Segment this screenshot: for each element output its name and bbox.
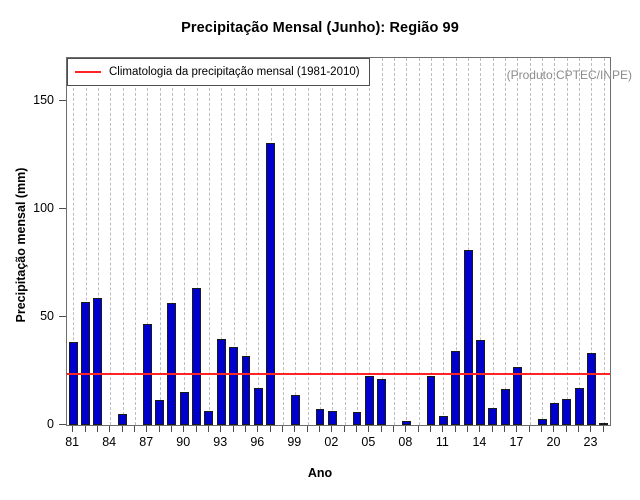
- bar: [192, 288, 201, 425]
- x-tick-mark: [430, 426, 431, 432]
- plot-area: [66, 57, 611, 426]
- bar: [81, 302, 90, 425]
- legend: Climatologia da precipitação mensal (198…: [67, 58, 370, 86]
- chart-figure: Precipitação Mensal (Junho): Região 99 P…: [0, 0, 640, 500]
- bar: [204, 411, 213, 425]
- bar: [501, 389, 510, 425]
- bar: [488, 408, 497, 425]
- x-tick-mark: [183, 426, 184, 432]
- x-tick-mark: [208, 426, 209, 432]
- x-tick-label: 93: [213, 435, 227, 449]
- x-tick-label: 14: [472, 435, 486, 449]
- x-tick-mark: [270, 426, 271, 432]
- bar: [155, 400, 164, 425]
- x-tick-mark: [455, 426, 456, 432]
- x-tick-mark: [282, 426, 283, 432]
- y-tick-mark: [59, 208, 66, 209]
- bar: [328, 411, 337, 425]
- x-tick-mark: [442, 426, 443, 432]
- x-tick-mark: [603, 426, 604, 432]
- x-tick-mark: [122, 426, 123, 432]
- x-tick-mark: [159, 426, 160, 432]
- bar: [242, 356, 251, 425]
- x-tick-mark: [566, 426, 567, 432]
- x-tick-label: 96: [250, 435, 264, 449]
- bar: [464, 250, 473, 425]
- y-tick-label: 150: [33, 93, 54, 107]
- x-tick-mark: [171, 426, 172, 432]
- bar: [538, 419, 547, 425]
- bar: [587, 353, 596, 425]
- x-tick-label: 11: [436, 435, 449, 449]
- climatology-reference-line: [67, 373, 610, 375]
- bar: [513, 367, 522, 425]
- y-tick-label: 50: [40, 309, 54, 323]
- bar: [451, 351, 460, 425]
- x-tick-mark: [220, 426, 221, 432]
- x-tick-mark: [479, 426, 480, 432]
- x-tick-label: 84: [102, 435, 116, 449]
- x-tick-mark: [109, 426, 110, 432]
- y-axis: Precipitação mensal (mm) 050100150: [0, 57, 66, 426]
- legend-label-climatologia: Climatologia da precipitação mensal (198…: [109, 66, 360, 78]
- y-tick-label: 0: [47, 417, 54, 431]
- bar: [353, 412, 362, 425]
- x-tick-mark: [344, 426, 345, 432]
- x-tick-mark: [467, 426, 468, 432]
- x-tick-mark: [85, 426, 86, 432]
- x-tick-mark: [529, 426, 530, 432]
- x-tick-label: 05: [361, 435, 375, 449]
- x-tick-mark: [146, 426, 147, 432]
- bar: [118, 414, 127, 425]
- y-tick-label: 100: [33, 201, 54, 215]
- x-tick-mark: [516, 426, 517, 432]
- produto-credit-text: (Produto:CPTEC/INPE): [507, 68, 632, 82]
- y-tick-mark: [59, 424, 66, 425]
- x-tick-mark: [307, 426, 308, 432]
- bar: [402, 421, 411, 425]
- x-tick-mark: [553, 426, 554, 432]
- x-axis-label: Ano: [0, 466, 640, 480]
- x-tick-label: 87: [139, 435, 153, 449]
- x-tick-mark: [233, 426, 234, 432]
- x-tick-mark: [381, 426, 382, 432]
- bar: [229, 347, 238, 425]
- bar: [599, 423, 608, 425]
- bars-layer: [67, 58, 610, 425]
- bar: [254, 388, 263, 425]
- x-tick-mark: [418, 426, 419, 432]
- x-tick-mark: [578, 426, 579, 432]
- x-tick-mark: [541, 426, 542, 432]
- x-tick-mark: [319, 426, 320, 432]
- x-axis: 818487909396990205081114172023: [66, 426, 611, 466]
- bar: [180, 392, 189, 425]
- x-tick-label: 99: [287, 435, 301, 449]
- legend-line-swatch-climatologia: [75, 71, 101, 73]
- x-tick-mark: [356, 426, 357, 432]
- x-tick-mark: [405, 426, 406, 432]
- bar: [575, 388, 584, 425]
- x-tick-label: 81: [65, 435, 79, 449]
- bar: [93, 298, 102, 425]
- bar: [562, 399, 571, 425]
- bar: [167, 303, 176, 425]
- bar: [266, 143, 275, 425]
- x-tick-mark: [368, 426, 369, 432]
- bar: [291, 395, 300, 425]
- x-tick-mark: [72, 426, 73, 432]
- bar: [217, 339, 226, 425]
- bar: [69, 342, 78, 425]
- x-tick-mark: [294, 426, 295, 432]
- bar: [316, 409, 325, 425]
- x-tick-mark: [590, 426, 591, 432]
- y-tick-mark: [59, 100, 66, 101]
- x-tick-label: 02: [324, 435, 338, 449]
- x-tick-mark: [134, 426, 135, 432]
- x-tick-mark: [97, 426, 98, 432]
- x-tick-label: 90: [176, 435, 190, 449]
- x-tick-mark: [257, 426, 258, 432]
- bar: [476, 340, 485, 425]
- bar: [550, 403, 559, 425]
- bar: [439, 416, 448, 425]
- y-axis-label: Precipitação mensal (mm): [14, 95, 28, 395]
- bar: [427, 376, 436, 425]
- bar: [365, 376, 374, 425]
- chart-title: Precipitação Mensal (Junho): Região 99: [0, 20, 640, 36]
- x-tick-mark: [504, 426, 505, 432]
- x-tick-label: 17: [509, 435, 523, 449]
- x-tick-label: 20: [547, 435, 561, 449]
- x-tick-mark: [196, 426, 197, 432]
- bar: [377, 379, 386, 425]
- y-tick-mark: [59, 316, 66, 317]
- x-tick-mark: [245, 426, 246, 432]
- x-tick-label: 23: [584, 435, 598, 449]
- x-tick-mark: [492, 426, 493, 432]
- x-tick-mark: [331, 426, 332, 432]
- x-tick-mark: [393, 426, 394, 432]
- x-tick-label: 08: [398, 435, 412, 449]
